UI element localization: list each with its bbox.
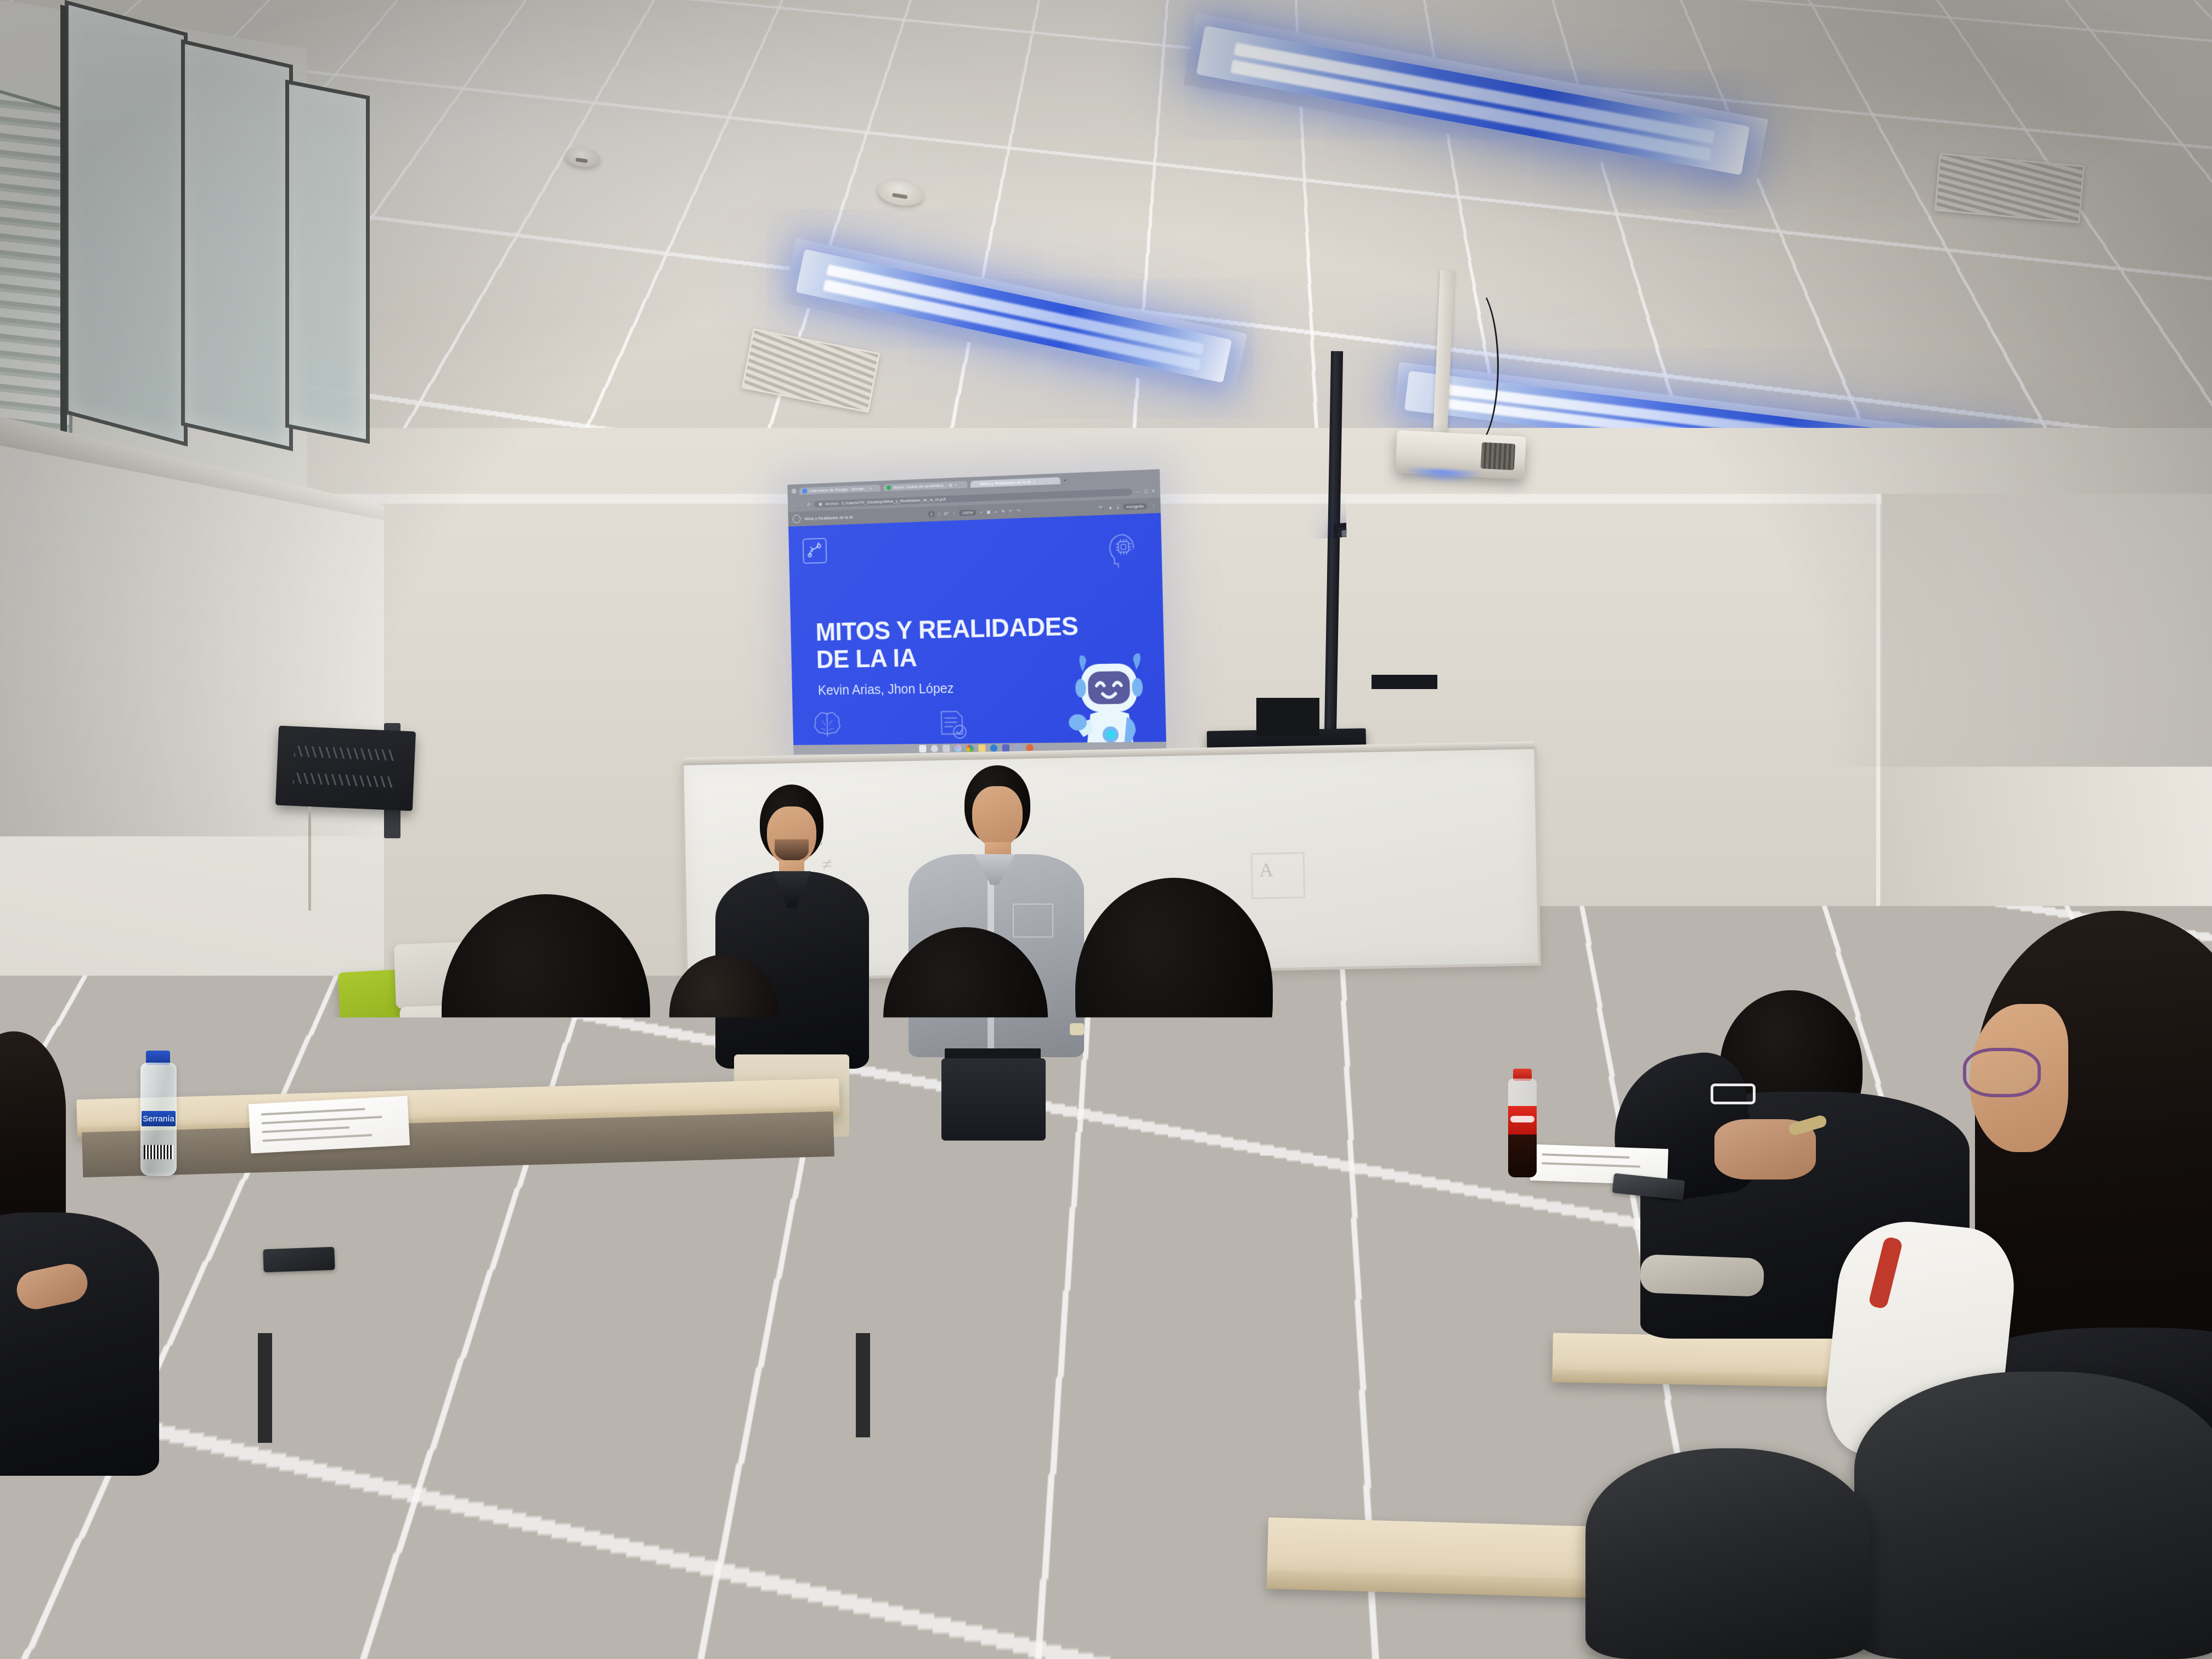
undo-icon[interactable]: ↶ — [1009, 509, 1013, 513]
back-arrow-icon[interactable]: ← — [792, 503, 796, 507]
tab-close-icon[interactable]: × — [870, 486, 872, 490]
document-check-icon — [936, 708, 970, 742]
office-chair-4[interactable] — [461, 1169, 620, 1295]
backpack-zipper — [1375, 1362, 1573, 1373]
projector-lens — [1481, 442, 1516, 470]
tv-slide-title-line2: DE LA IA — [1357, 610, 1423, 630]
search-icon[interactable]: 🔍 — [1099, 505, 1104, 510]
wall-speaker — [275, 726, 416, 811]
projected-screen: Calendario de Google - Seman... × Mural:… — [787, 469, 1166, 754]
head — [442, 894, 650, 1125]
page-current-field[interactable]: 1 — [928, 511, 935, 517]
bottle-liquid — [1508, 1133, 1537, 1177]
download-icon[interactable]: ⤓ — [1117, 504, 1119, 510]
office-chair-5[interactable] — [812, 1141, 955, 1251]
minimize-icon[interactable]: — — [1136, 489, 1140, 494]
slide-title-line1: MITOS Y REALIDADES — [815, 614, 1079, 646]
eyeglasses-icon[interactable] — [1963, 1048, 2041, 1097]
close-icon[interactable]: ✕ — [1152, 488, 1155, 493]
file-icon: ▣ — [819, 501, 822, 506]
network-node-icon — [1350, 561, 1368, 582]
network-node-icon — [803, 538, 827, 563]
favicon-mural — [887, 485, 891, 490]
url-text: C:/Users/ITE_/Desktop/Mitos_y_Realidades… — [842, 496, 946, 505]
tv-slide-title-line1: MITOS Y REALIDADES — [1356, 586, 1528, 611]
beard — [775, 839, 809, 861]
chrome-icon[interactable] — [966, 744, 974, 752]
sidebar-toggle-icon[interactable] — [793, 515, 801, 523]
draw-icon[interactable]: ✎ — [1001, 509, 1005, 513]
face — [972, 786, 1023, 848]
highlight-icon[interactable]: ▲ — [1108, 505, 1113, 510]
tv-wall-mount — [1372, 675, 1437, 689]
profile-badge[interactable]: Incógnito — [1123, 503, 1147, 510]
brain-icon — [810, 709, 844, 738]
slide-title-line2: DE LA IA — [816, 646, 917, 674]
kebab-menu-icon[interactable]: ⋮ — [1152, 503, 1156, 508]
tab-close-icon[interactable]: × — [955, 482, 957, 487]
copilot-icon[interactable] — [954, 744, 961, 752]
coca-cola-bottle[interactable] — [1506, 1069, 1539, 1178]
speaker-grille-slats-bottom — [293, 772, 395, 788]
bottle-barcode — [144, 1145, 173, 1159]
browser-tab-2[interactable]: Mitos y Realidades de la IA × — [970, 477, 1060, 487]
tab-title: Mural: Charla de sensibiliza... — [893, 483, 947, 490]
waving-robot-mascot — [1058, 636, 1162, 745]
tv-slide-authors: Kevin Arias, Jhon López — [1358, 632, 1447, 645]
office-chair-3[interactable] — [1854, 1372, 2212, 1659]
chair-red-dot — [425, 1421, 437, 1433]
window-mullion — [60, 4, 67, 439]
tab-title: Mitos y Realidades de la IA — [980, 479, 1031, 486]
head-with-chip-icon — [1533, 554, 1561, 582]
page-separator: / — [939, 511, 940, 516]
task-view-icon[interactable] — [943, 744, 950, 752]
wall-mounted-display: MITOS Y REALIDADES DE LA IA Kevin Arias,… — [1334, 507, 1577, 692]
water-bottle[interactable]: Serranía — [137, 1051, 180, 1177]
office-chair-1[interactable] — [329, 1339, 768, 1659]
tablet-device[interactable] — [263, 1247, 335, 1273]
maximize-icon[interactable]: ▢ — [1144, 489, 1148, 494]
presentation-slide: MITOS Y REALIDADES DE LA IA Kevin Arias,… — [788, 513, 1166, 745]
folded-cloth — [1640, 1254, 1764, 1297]
zoom-out-icon[interactable]: − — [952, 511, 955, 516]
url-scheme-label: Archivo — [825, 501, 838, 506]
browser-tab-0[interactable]: Calendario de Google - Seman... × — [799, 484, 881, 495]
printed-papers-back[interactable] — [249, 1096, 410, 1153]
head-with-chip-icon — [1102, 528, 1143, 569]
fit-page-icon[interactable]: ▣ — [986, 509, 990, 514]
new-tab-icon[interactable]: + — [1063, 478, 1066, 483]
bottle-label: Serranía — [142, 1111, 176, 1126]
office-chair-6[interactable] — [1585, 1448, 1871, 1659]
torso — [0, 1212, 159, 1476]
printed-papers-mid[interactable] — [757, 1109, 895, 1153]
classroom-scene: Calendario de Google - Seman... × Mural:… — [0, 0, 2212, 1659]
soundbar-bracket — [1256, 698, 1319, 736]
rotate-icon[interactable]: ◐ — [995, 509, 997, 514]
desk-leg-1 — [258, 1333, 272, 1443]
window-pane-3 — [285, 80, 370, 444]
speaker-cable — [308, 806, 311, 911]
tab-close-icon[interactable]: × — [1033, 479, 1036, 484]
favicon-pdf — [973, 481, 978, 486]
search-icon[interactable] — [930, 745, 938, 753]
file-explorer-icon[interactable] — [978, 744, 985, 752]
redo-icon[interactable]: ↷ — [1017, 508, 1020, 513]
tab-search-icon[interactable] — [792, 488, 797, 494]
window-pane-1 — [65, 0, 188, 447]
chair-red-dot — [1215, 1303, 1227, 1315]
teams-icon[interactable] — [1002, 744, 1009, 752]
edge-icon[interactable] — [990, 744, 997, 752]
windows-start-icon[interactable] — [919, 745, 926, 753]
forward-arrow-icon[interactable]: → — [800, 502, 804, 507]
head — [1075, 878, 1273, 1103]
reload-icon[interactable]: ⟳ — [807, 502, 810, 507]
ceiling-projector — [1395, 430, 1526, 479]
slide-authors: Kevin Arias, Jhon López — [818, 681, 954, 698]
coke-wordmark — [1510, 1116, 1534, 1122]
browser-tab-1[interactable]: Mural: Charla de sensibiliza... ◍ × — [883, 481, 967, 491]
tab-title: Calendario de Google - Seman... — [809, 486, 867, 493]
backpack-pocket — [1408, 1229, 1539, 1361]
window-pane-2 — [181, 39, 293, 451]
eyeglasses-icon — [1711, 1084, 1756, 1104]
pdf-document-title: Mitos y Realidades de la IA — [804, 515, 853, 521]
zoom-level[interactable]: 100% — [959, 509, 976, 516]
page-total: 27 — [944, 511, 949, 516]
tab-mute-icon[interactable]: ◍ — [949, 482, 952, 487]
zoom-in-icon[interactable]: + — [980, 510, 983, 515]
favicon-google-calendar — [803, 488, 807, 493]
tv-slide: MITOS Y REALIDADES DE LA IA Kevin Arias,… — [1339, 541, 1572, 687]
speaker-grille-slats-top — [294, 746, 396, 761]
projector-cable — [1448, 285, 1499, 448]
